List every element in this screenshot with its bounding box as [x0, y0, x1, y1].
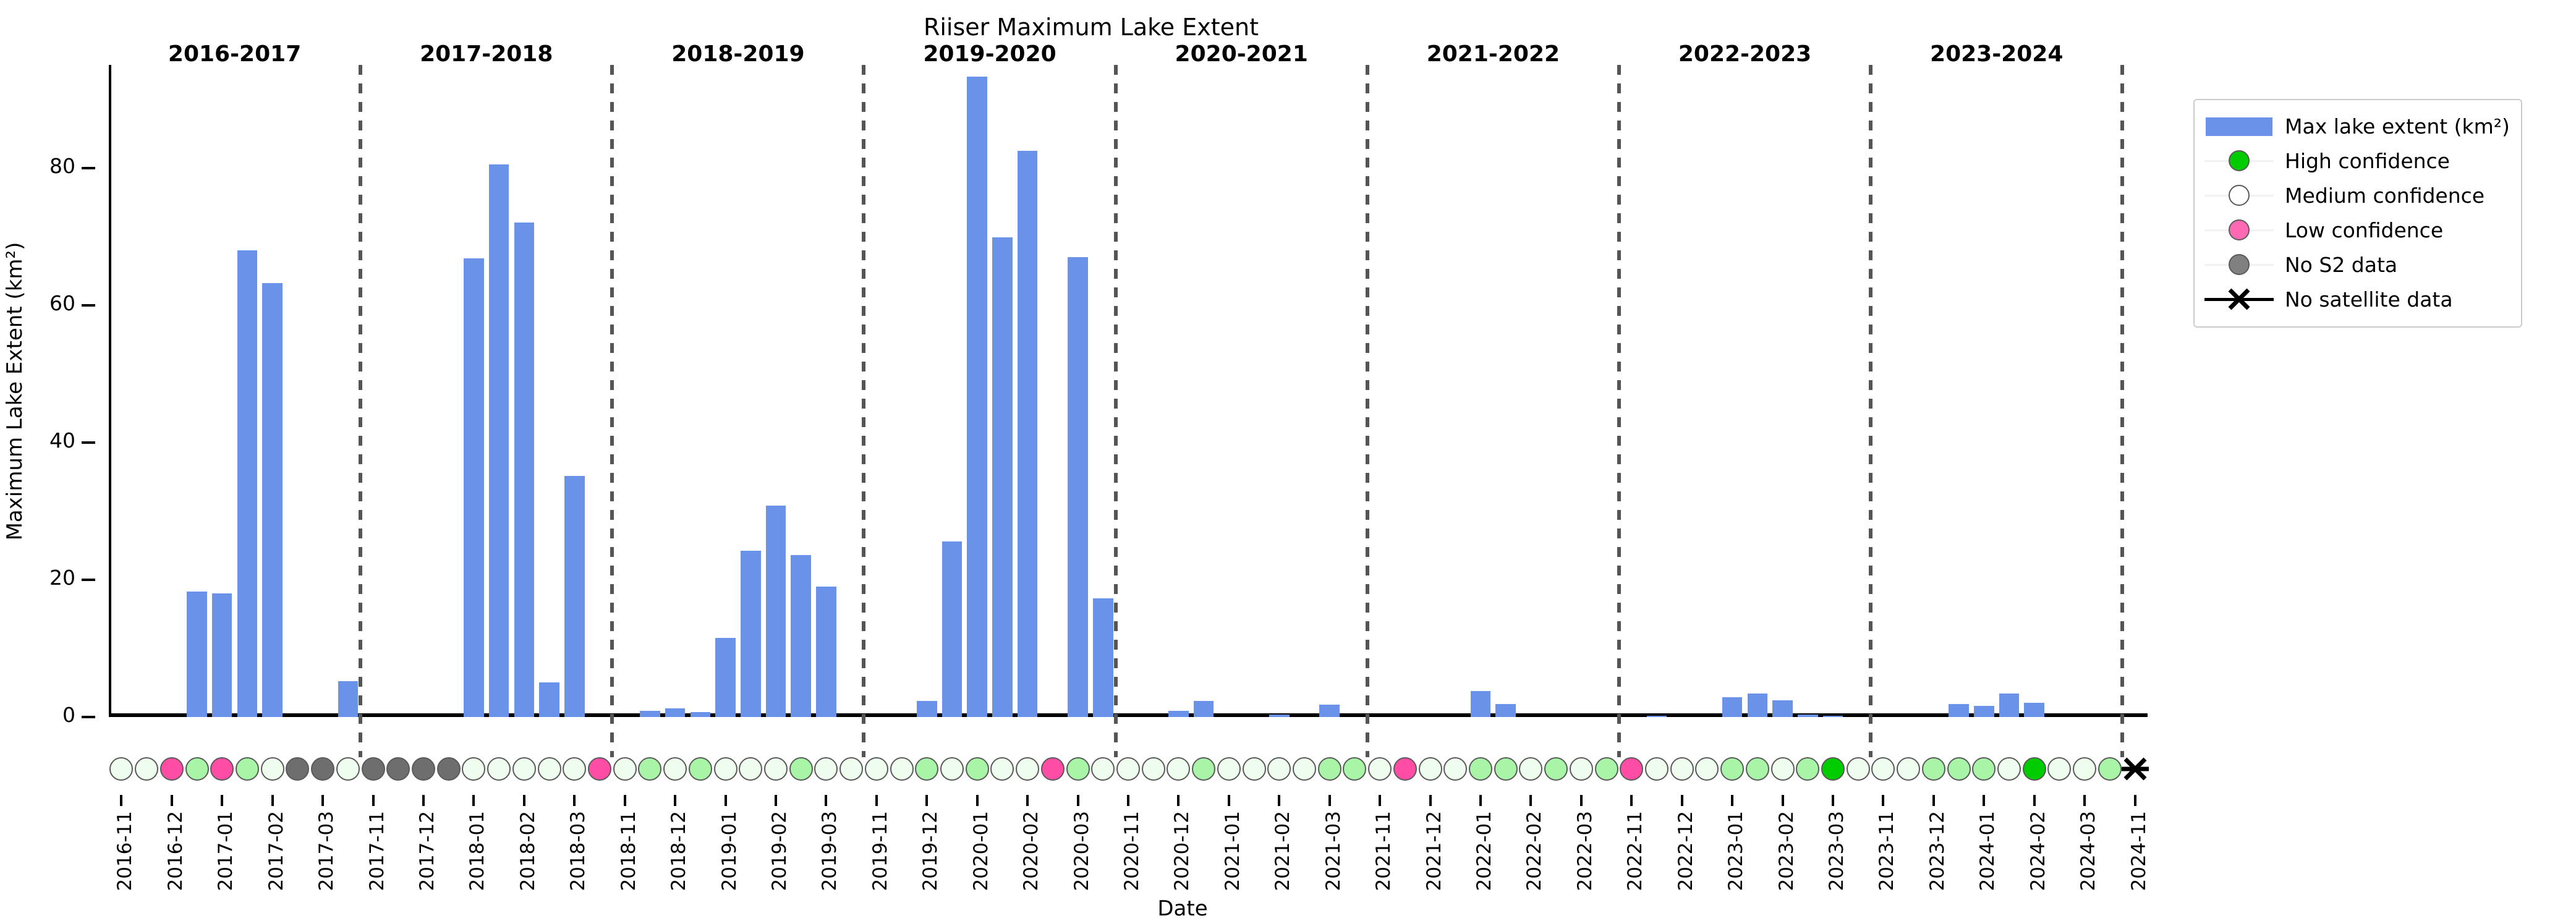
x-tick-mark — [1580, 795, 1583, 806]
x-tick-mark — [624, 795, 626, 806]
season-label: 2016-2017 — [168, 41, 301, 67]
confidence-marker — [865, 757, 888, 781]
confidence-marker — [1922, 757, 1945, 781]
legend-marker-swatch — [2203, 218, 2275, 242]
legend-dot-icon — [2229, 150, 2250, 171]
confidence-marker — [1142, 757, 1165, 781]
legend-dot-icon — [2229, 185, 2250, 206]
season-divider — [1617, 65, 1621, 757]
x-tick-label: 2020-12 — [1171, 811, 1193, 891]
x-tick-mark — [775, 795, 777, 806]
confidence-marker — [236, 757, 259, 781]
x-tick-mark — [1026, 795, 1029, 806]
bar — [237, 250, 258, 717]
confidence-marker — [2023, 757, 2046, 781]
confidence-marker — [1595, 757, 1618, 781]
confidence-marker — [1243, 757, 1266, 781]
x-tick-mark — [1731, 795, 1733, 806]
confidence-marker — [1645, 757, 1668, 781]
x-tick-label: 2017-01 — [215, 811, 237, 891]
x-tick-label: 2021-11 — [1372, 811, 1395, 891]
confidence-marker — [1871, 757, 1895, 781]
confidence-marker — [1016, 757, 1039, 781]
confidence-marker — [1544, 757, 1568, 781]
x-tick-mark — [573, 795, 576, 806]
x-tick-label: 2020-02 — [1020, 811, 1042, 891]
legend-x-icon — [2225, 286, 2253, 313]
y-tick-mark — [82, 579, 95, 581]
x-tick-label: 2021-01 — [1222, 811, 1244, 891]
x-tick-label: 2017-11 — [366, 811, 388, 891]
x-tick-label: 2019-11 — [869, 811, 891, 891]
y-tick-label: 60 — [49, 291, 75, 315]
confidence-marker — [990, 757, 1014, 781]
axes-frame: 020406080 2016-20172017-20182018-2019201… — [109, 65, 2148, 717]
x-tick-mark — [120, 795, 122, 806]
bar — [1471, 691, 1491, 717]
season-divider — [359, 65, 362, 757]
x-tick-mark — [422, 795, 425, 806]
x-tick-mark — [875, 795, 878, 806]
confidence-marker — [336, 757, 360, 781]
y-tick-mark — [82, 716, 95, 718]
x-tick-label: 2023-11 — [1876, 811, 1898, 891]
legend-label: High confidence — [2285, 149, 2450, 173]
x-tick-mark — [725, 795, 727, 806]
x-tick-mark — [1529, 795, 1532, 806]
y-tick-mark — [82, 167, 95, 169]
confidence-marker — [1368, 757, 1392, 781]
x-tick-mark — [1429, 795, 1432, 806]
x-tick-label: 2016-11 — [114, 811, 136, 891]
legend-dot-icon — [2229, 219, 2250, 240]
confidence-marker — [1847, 757, 1870, 781]
bar — [1999, 694, 2020, 717]
y-tick-mark — [82, 441, 95, 444]
x-tick-mark — [1832, 795, 1834, 806]
y-tick-label: 0 — [62, 703, 75, 727]
bar — [1722, 697, 1743, 717]
bar — [187, 592, 207, 717]
season-label: 2023-2024 — [1930, 41, 2063, 67]
x-tick-label: 2023-12 — [1926, 811, 1949, 891]
confidence-marker — [915, 757, 938, 781]
confidence-marker — [764, 757, 788, 781]
bar — [1093, 598, 1113, 717]
season-label: 2020-2021 — [1175, 41, 1308, 67]
x-tick-mark — [1278, 795, 1280, 806]
confidence-marker — [1192, 757, 1215, 781]
y-axis-spine — [109, 65, 111, 717]
x-tick-mark — [1127, 795, 1129, 806]
x-tick-label: 2023-02 — [1775, 811, 1798, 891]
legend-item[interactable]: No S2 data — [2203, 247, 2510, 282]
x-tick-mark — [976, 795, 979, 806]
confidence-marker — [1167, 757, 1190, 781]
x-tick-label: 2022-02 — [1523, 811, 1545, 891]
x-tick-label: 2019-02 — [768, 811, 791, 891]
x-tick-label: 2020-01 — [970, 811, 992, 891]
bar — [1194, 701, 1214, 717]
confidence-marker — [1997, 757, 2021, 781]
confidence-marker — [1393, 757, 1417, 781]
x-tick-label: 2020-03 — [1071, 811, 1093, 891]
y-tick-label: 40 — [49, 428, 75, 452]
season-divider — [1114, 65, 1118, 757]
bar — [715, 638, 736, 717]
bar — [1949, 704, 1969, 717]
x-tick-label: 2022-01 — [1473, 811, 1495, 891]
x-tick-mark — [674, 795, 676, 806]
x-tick-mark — [1479, 795, 1482, 806]
x-tick-label: 2020-11 — [1121, 811, 1143, 891]
legend-item[interactable]: Max lake extent (km²) — [2203, 109, 2510, 143]
confidence-marker — [563, 757, 586, 781]
x-tick-label: 2017-03 — [315, 811, 338, 891]
confidence-marker — [1570, 757, 1593, 781]
bar — [2024, 703, 2044, 717]
confidence-marker — [1419, 757, 1442, 781]
page-title: Riiser Maximum Lake Extent — [0, 14, 2182, 41]
confidence-marker — [135, 757, 158, 781]
confidence-marker — [2073, 757, 2096, 781]
confidence-marker — [512, 757, 536, 781]
legend-marker-swatch — [2203, 183, 2275, 208]
x-tick-label: 2019-01 — [718, 811, 741, 891]
x-tick-mark — [1882, 795, 1884, 806]
x-tick-label: 2018-01 — [466, 811, 488, 891]
bar — [1748, 694, 1768, 717]
confidence-marker — [437, 757, 461, 781]
season-divider — [1366, 65, 1369, 757]
x-tick-label: 2017-12 — [416, 811, 438, 891]
x-tick-label: 2022-12 — [1675, 811, 1697, 891]
confidence-marker — [940, 757, 964, 781]
bar — [1168, 711, 1189, 717]
x-tick-label: 2021-12 — [1423, 811, 1445, 891]
bar — [464, 258, 484, 717]
confidence-marker — [588, 757, 611, 781]
bar — [1018, 151, 1038, 717]
x-tick-mark — [372, 795, 375, 806]
x-tick-label: 2022-11 — [1624, 811, 1646, 891]
bar — [1269, 715, 1290, 717]
bar — [917, 701, 937, 717]
bar — [1823, 716, 1843, 717]
confidence-marker — [362, 757, 385, 781]
confidence-marker — [890, 757, 914, 781]
x-tick-label: 2024-02 — [2027, 811, 2049, 891]
x-tick-mark — [221, 795, 223, 806]
confidence-marker — [1443, 757, 1467, 781]
x-tick-label: 2024-01 — [1976, 811, 1999, 891]
season-divider — [2120, 65, 2124, 757]
bar — [489, 164, 509, 717]
bar — [1772, 700, 1793, 717]
confidence-marker — [1746, 757, 1769, 781]
confidence-marker — [1469, 757, 1492, 781]
season-label: 2021-2022 — [1427, 41, 1560, 67]
legend-label: No S2 data — [2285, 253, 2397, 277]
confidence-marker — [966, 757, 989, 781]
confidence-marker — [663, 757, 687, 781]
x-tick-label: 2018-11 — [618, 811, 640, 891]
season-divider — [1869, 65, 1872, 757]
x-tick-label: 2017-02 — [265, 811, 287, 891]
legend-item[interactable]: No satellite data — [2203, 282, 2510, 316]
x-tick-mark — [825, 795, 827, 806]
confidence-marker — [462, 757, 485, 781]
bar — [766, 506, 786, 717]
x-tick-mark — [1077, 795, 1079, 806]
x-tick-mark — [1630, 795, 1633, 806]
bar — [691, 712, 711, 717]
x-tick-mark — [1782, 795, 1784, 806]
chart-figure: Riiser Maximum Lake Extent 020406080 201… — [0, 0, 2576, 908]
x-tick-label: 2018-03 — [567, 811, 589, 891]
legend-label: Medium confidence — [2285, 184, 2485, 208]
confidence-marker — [789, 757, 813, 781]
bar — [741, 551, 761, 717]
confidence-marker — [1670, 757, 1694, 781]
x-tick-mark — [1932, 795, 1935, 806]
x-tick-mark — [2083, 795, 2086, 806]
confidence-marker — [261, 757, 284, 781]
confidence-marker — [2047, 757, 2071, 781]
confidence-marker — [2098, 757, 2122, 781]
confidence-marker — [1066, 757, 1090, 781]
confidence-marker — [1519, 757, 1542, 781]
confidence-marker — [286, 757, 309, 781]
legend-color-patch — [2206, 117, 2272, 136]
legend-item[interactable]: High confidence — [2203, 143, 2510, 178]
x-tick-mark — [171, 795, 173, 806]
x-tick-label: 2021-02 — [1272, 811, 1294, 891]
confidence-marker — [1217, 757, 1241, 781]
confidence-marker — [638, 757, 661, 781]
season-divider — [862, 65, 865, 757]
x-tick-label: 2023-01 — [1725, 811, 1747, 891]
legend: Max lake extent (km²)High confidenceMedi… — [2193, 99, 2522, 328]
no-satellite-data-icon — [2122, 755, 2149, 783]
confidence-marker — [1821, 757, 1845, 781]
season-divider — [610, 65, 614, 757]
y-tick-label: 20 — [49, 566, 75, 590]
legend-dot-icon — [2229, 254, 2250, 275]
confidence-marker — [1293, 757, 1316, 781]
confidence-marker — [1091, 757, 1115, 781]
x-tick-label: 2023-03 — [1826, 811, 1848, 891]
legend-marker-swatch — [2203, 252, 2275, 277]
x-tick-label: 2024-11 — [2128, 811, 2150, 891]
confidence-marker — [739, 757, 762, 781]
confidence-marker — [210, 757, 234, 781]
confidence-marker — [1343, 757, 1366, 781]
legend-label: Max lake extent (km²) — [2285, 114, 2510, 138]
legend-label: No satellite data — [2285, 287, 2453, 312]
confidence-marker — [412, 757, 435, 781]
confidence-marker — [185, 757, 209, 781]
legend-item[interactable]: Medium confidence — [2203, 178, 2510, 213]
x-tick-mark — [1983, 795, 1985, 806]
confidence-marker — [1695, 757, 1719, 781]
bar — [816, 587, 836, 717]
y-tick-mark — [82, 304, 95, 307]
confidence-marker — [386, 757, 410, 781]
x-tick-mark — [523, 795, 525, 806]
x-tick-label: 2019-03 — [818, 811, 841, 891]
bar — [1647, 716, 1667, 717]
x-tick-label: 2019-12 — [919, 811, 942, 891]
confidence-marker — [1897, 757, 1920, 781]
confidence-marker — [1041, 757, 1065, 781]
confidence-marker — [1720, 757, 1744, 781]
bar — [791, 555, 811, 717]
confidence-marker — [613, 757, 637, 781]
x-tick-label: 2022-03 — [1574, 811, 1596, 891]
x-tick-mark — [2033, 795, 2036, 806]
legend-item[interactable]: Low confidence — [2203, 213, 2510, 247]
x-tick-mark — [1681, 795, 1683, 806]
confidence-marker — [1494, 757, 1518, 781]
bar — [1068, 257, 1088, 717]
bar — [942, 541, 963, 717]
confidence-marker — [538, 757, 561, 781]
x-tick-label: 2018-02 — [517, 811, 539, 891]
confidence-marker — [311, 757, 334, 781]
legend-bar-swatch — [2203, 114, 2275, 138]
confidence-marker — [840, 757, 863, 781]
bar — [665, 708, 686, 717]
x-tick-mark — [271, 795, 274, 806]
confidence-marker — [487, 757, 511, 781]
confidence-marker — [814, 757, 838, 781]
confidence-marker — [1318, 757, 1341, 781]
x-tick-label: 2024-03 — [2077, 811, 2099, 891]
bar — [514, 223, 535, 717]
confidence-marker — [109, 757, 133, 781]
confidence-marker — [1620, 757, 1643, 781]
season-label: 2019-2020 — [923, 41, 1056, 67]
bar — [640, 711, 660, 717]
x-tick-mark — [1328, 795, 1331, 806]
y-axis-label: Maximum Lake Extent (km²) — [2, 175, 27, 608]
bar — [539, 682, 559, 717]
x-axis-label: Date — [109, 896, 2256, 921]
legend-marker-swatch — [2203, 148, 2275, 173]
confidence-marker — [1267, 757, 1291, 781]
bar — [262, 283, 283, 717]
confidence-marker — [1771, 757, 1795, 781]
bar — [338, 681, 359, 717]
season-label: 2018-2019 — [671, 41, 804, 67]
x-tick-mark — [1228, 795, 1230, 806]
confidence-marker — [160, 757, 184, 781]
x-tick-mark — [1177, 795, 1180, 806]
bar — [1798, 715, 1818, 717]
bar — [564, 476, 585, 717]
confidence-marker — [714, 757, 738, 781]
x-tick-mark — [2134, 795, 2136, 806]
x-tick-label: 2016-12 — [164, 811, 187, 891]
bar — [1495, 704, 1516, 717]
x-tick-label: 2018-12 — [668, 811, 690, 891]
x-tick-mark — [321, 795, 324, 806]
bar — [1974, 706, 1994, 717]
confidence-marker — [1972, 757, 1996, 781]
season-label: 2022-2023 — [1678, 41, 1811, 67]
x-tick-mark — [925, 795, 928, 806]
y-tick-label: 80 — [49, 154, 75, 178]
legend-label: Low confidence — [2285, 218, 2443, 242]
x-tick-mark — [1379, 795, 1381, 806]
legend-x-swatch — [2203, 287, 2275, 312]
x-tick-label: 2021-03 — [1322, 811, 1345, 891]
bar — [1319, 705, 1340, 717]
confidence-marker — [1947, 757, 1971, 781]
confidence-marker — [689, 757, 712, 781]
x-tick-mark — [472, 795, 475, 806]
bar — [992, 237, 1013, 717]
bar — [212, 593, 232, 717]
season-label: 2017-2018 — [420, 41, 553, 67]
plot-area: 020406080 2016-20172017-20182018-2019201… — [109, 65, 2148, 717]
confidence-marker — [1116, 757, 1140, 781]
confidence-marker — [1796, 757, 1819, 781]
bar — [967, 77, 987, 717]
